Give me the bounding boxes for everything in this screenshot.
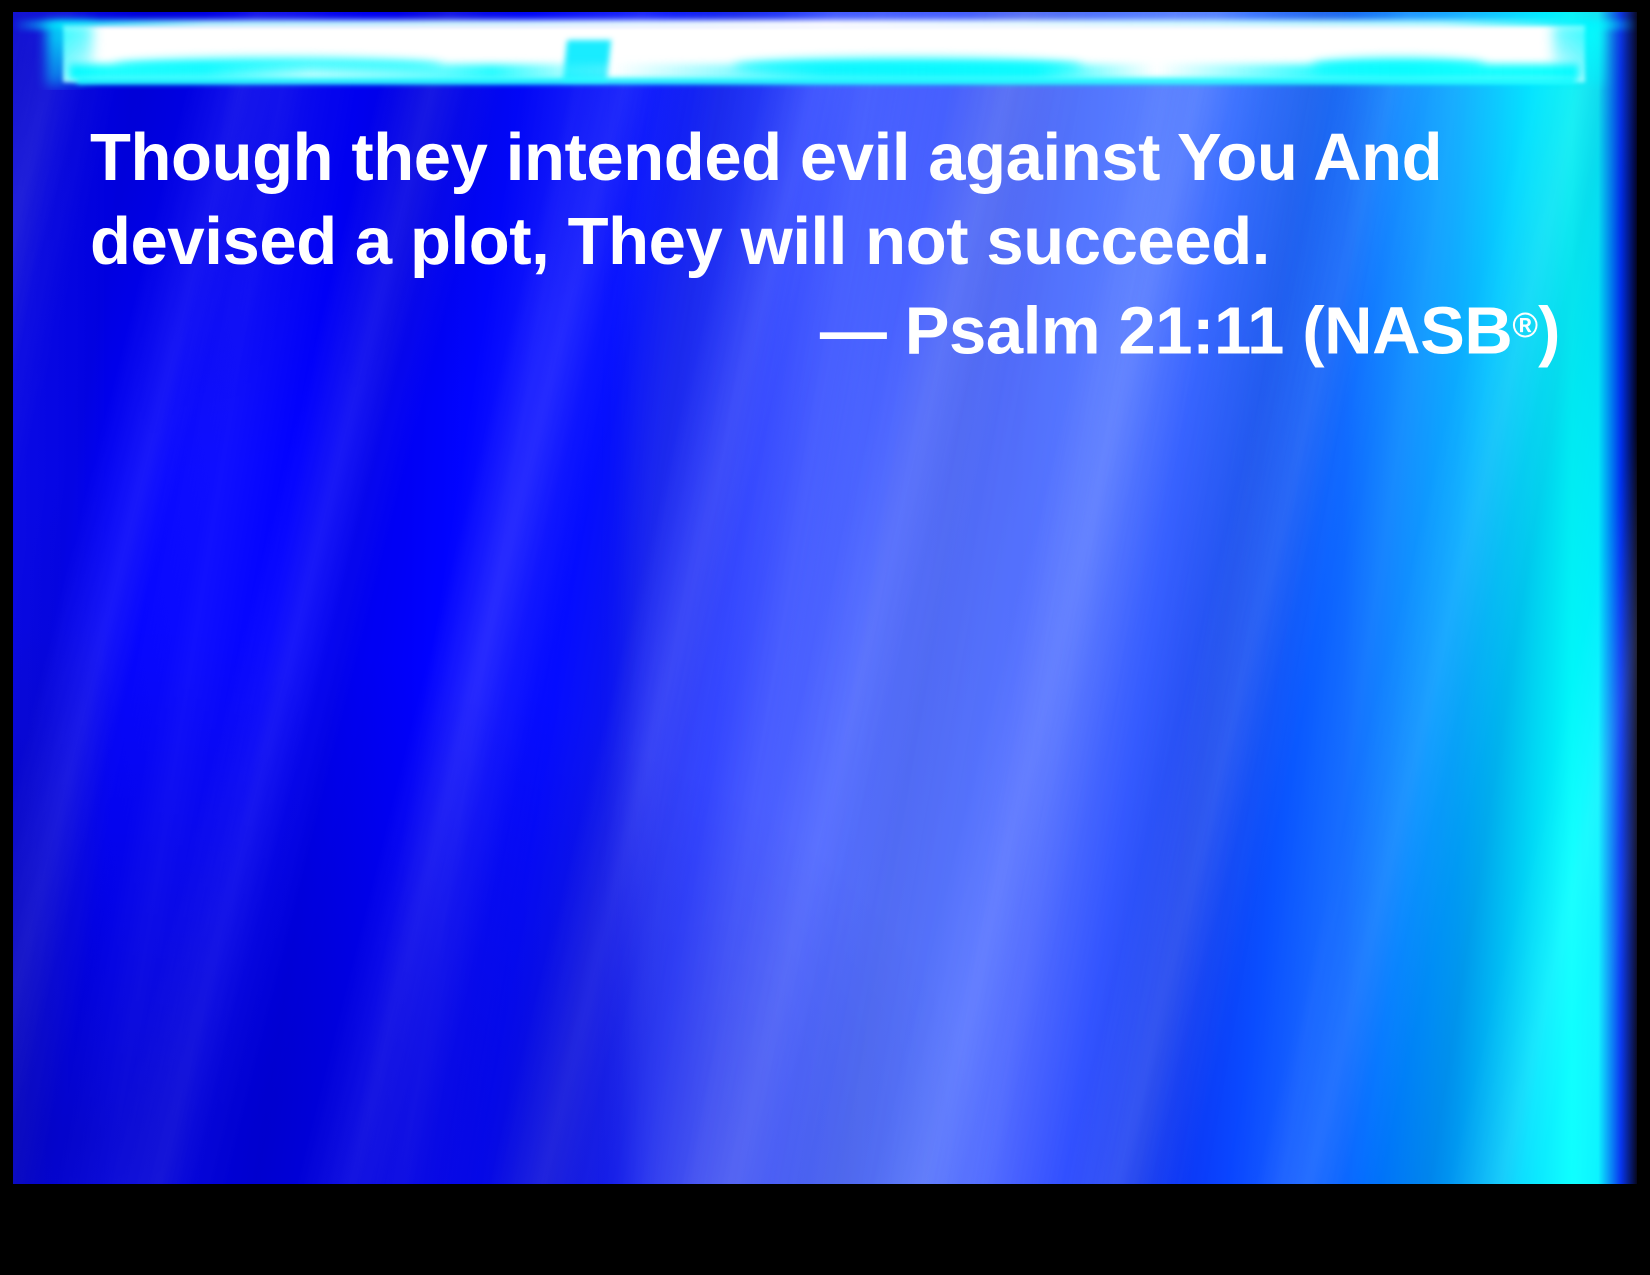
attribution-dash: — bbox=[820, 294, 887, 369]
banner-cyan-left-flare bbox=[47, 24, 93, 86]
attribution-version-open: (NASB bbox=[1302, 294, 1512, 369]
top-banner bbox=[13, 12, 1637, 90]
attribution-version-close: ) bbox=[1538, 294, 1560, 369]
attribution-book: Psalm bbox=[905, 294, 1100, 369]
verse-line-2: devised a plot, They will not succeed. bbox=[90, 200, 1560, 284]
banner-cyan-underline bbox=[77, 78, 1575, 84]
slide-canvas: Though they intended evil against You An… bbox=[13, 12, 1637, 1184]
banner-cyan-right-flare bbox=[1553, 24, 1603, 86]
verse-line-1: Though they intended evil against You An… bbox=[90, 116, 1560, 200]
scripture-slide: Though they intended evil against You An… bbox=[0, 0, 1650, 1275]
registered-trademark-icon: ® bbox=[1512, 306, 1538, 345]
verse-attribution: — Psalm 21:11 (NASB®) bbox=[90, 284, 1560, 374]
verse-text-block: Though they intended evil against You An… bbox=[90, 116, 1560, 374]
attribution-reference: 21:11 bbox=[1118, 294, 1284, 369]
